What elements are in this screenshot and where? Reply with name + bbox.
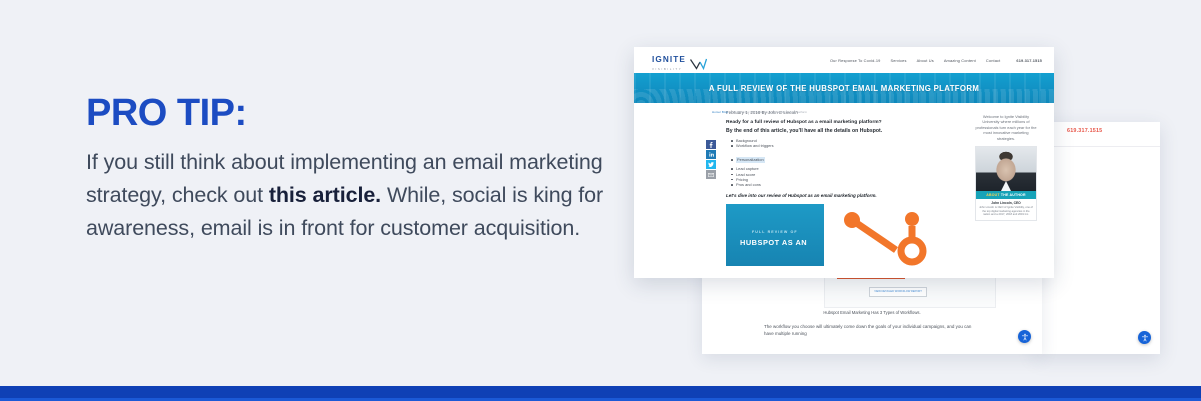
avatar (976, 147, 1036, 191)
logo-wordmark: IGNITE (652, 55, 686, 64)
pro-tip-block: PRO TIP: If you still think about implem… (86, 94, 626, 245)
browser-window-front[interactable]: IGNITE VISIBILITY Our Response To Covid-… (634, 47, 1054, 278)
email-icon[interactable] (706, 170, 716, 179)
canvas: PRO TIP: If you still think about implem… (0, 0, 1201, 401)
bottom-accent-bar (0, 386, 1201, 401)
workflow-report-button[interactable]: VIEW DETAILED WORKFLOW REPORT (869, 287, 927, 297)
nav-item-content[interactable]: Amazing Content (944, 58, 976, 63)
body-line-1: If you still think about implementing an… (86, 150, 503, 174)
article-answer: By the end of this article, you'll have … (726, 128, 958, 134)
nav-item-about[interactable]: About Us (917, 58, 934, 63)
accessibility-icon[interactable] (1138, 331, 1151, 344)
workflow-caption: Hubspot Email Marketing Has 3 Types of W… (702, 310, 1042, 315)
article-lede: Let's dive into our review of Hubspot as… (726, 193, 958, 199)
nav-item-covid[interactable]: Our Response To Covid-19 (830, 58, 880, 63)
browser-mockup-group: Contact 619.317.1515 (630, 40, 1160, 360)
nav-item-contact[interactable]: Contact (986, 58, 1000, 63)
author-bio: John Lincoln is CEO of Ignite Visibility… (976, 206, 1036, 220)
feature-image-line-1: FULL REVIEW OF (752, 230, 798, 234)
body-line-4: in front for customer acquisition. (279, 216, 580, 240)
author-bar: ABOUT THE AUTHOR (976, 191, 1036, 199)
pro-tip-body: If you still think about implementing an… (86, 146, 626, 245)
article-link[interactable]: this article. (269, 183, 381, 207)
facebook-glyph (709, 142, 713, 148)
facebook-icon[interactable] (706, 140, 716, 149)
article-body: Home/ Blog / A Full Review of The Hubspo… (634, 103, 1054, 266)
author-name: John Lincoln, CEO (976, 199, 1036, 206)
feature-image-panel (726, 204, 824, 266)
accessibility-glyph (1141, 334, 1149, 342)
logo[interactable]: IGNITE VISIBILITY (652, 49, 707, 71)
page-title: PRO TIP: (86, 94, 626, 132)
article-question: Ready for a full review of Hubspot as a … (726, 120, 958, 125)
author-bar-rest: THE AUTHOR (1000, 193, 1026, 197)
twitter-icon[interactable] (706, 160, 716, 169)
hubspot-sprocket-icon (826, 206, 946, 266)
article-bullet-list: Background Workflow and triggers Persona… (726, 138, 958, 187)
email-glyph (708, 173, 714, 177)
feature-image-line-2: HUBSPOT AS AN (740, 238, 807, 247)
author-bar-bold: ABOUT (986, 193, 999, 197)
breadcrumb: Home/ Blog / A Full Review of The Hubspo… (712, 110, 807, 114)
nav-phone-number[interactable]: 619.317.1515 (1016, 58, 1042, 63)
linkedin-glyph (709, 152, 714, 157)
twitter-glyph (708, 162, 714, 167)
list-item: Pros and cons (736, 182, 958, 187)
accessibility-glyph (1021, 333, 1029, 341)
workflow-report-button-label: VIEW DETAILED WORKFLOW REPORT (870, 288, 926, 296)
accessibility-icon[interactable] (1018, 330, 1031, 343)
breadcrumb-current: / A Full Review of The Hubspot Email Mar… (729, 110, 807, 114)
site-navbar: IGNITE VISIBILITY Our Response To Covid-… (634, 47, 1054, 73)
nav-links: Our Response To Covid-19 Services About … (830, 58, 1042, 63)
workflow-body-text: The workflow you choose will ultimately … (764, 324, 980, 337)
sidebar-intro-text: Welcome to Ignite Visibility University … (974, 114, 1038, 141)
author-card: ABOUT THE AUTHOR John Lincoln, CEO John … (975, 146, 1037, 221)
breadcrumb-blog[interactable]: / Blog (720, 110, 728, 114)
linkedin-icon[interactable] (706, 150, 716, 159)
article-sidebar: Welcome to Ignite Visibility University … (974, 110, 1038, 266)
social-share-bar (706, 140, 716, 179)
hero-banner: A FULL REVIEW OF THE HUBSPOT EMAIL MARKE… (634, 73, 1054, 103)
logo-tagline: VISIBILITY (652, 68, 686, 71)
nav-item-services[interactable]: Services (890, 58, 906, 63)
article-feature-image: FULL REVIEW OF HUBSPOT AS AN (726, 204, 958, 266)
back-nav-phone[interactable]: 619.317.1515 (1067, 128, 1102, 134)
breadcrumb-home[interactable]: Home (712, 110, 720, 114)
hero-title: A FULL REVIEW OF THE HUBSPOT EMAIL MARKE… (709, 84, 979, 93)
ignite-checkmark-icon (690, 58, 707, 70)
article-main-column: February 1, 2018 By John E Lincoln Ready… (726, 110, 958, 266)
list-item: Workflow and triggers (736, 143, 958, 148)
list-item: Personalization (736, 157, 765, 162)
avatar-shirt (1001, 181, 1011, 191)
